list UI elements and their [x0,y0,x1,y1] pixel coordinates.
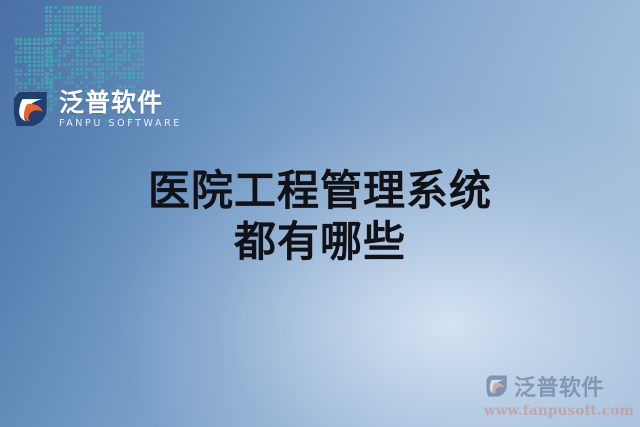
brand-wordmark: 泛普软件 FANPU SOFTWARE [59,90,182,129]
brand-logo: 泛普软件 FANPU SOFTWARE [10,88,182,130]
watermark-name-cn: 泛普软件 [514,370,604,402]
page-title: 医院工程管理系统 都有哪些 [0,166,640,266]
watermark-logo-row: 泛普软件 [484,370,634,402]
watermark: 泛普软件 www.fanpusoft.com [484,370,634,419]
fanpu-hexagon-logo-icon [484,373,510,399]
fanpu-hexagon-logo-icon [10,88,52,130]
promo-banner: 泛普软件 FANPU SOFTWARE 医院工程管理系统 都有哪些 泛普软件 w… [0,0,640,427]
page-title-line-1: 医院工程管理系统 [0,166,640,215]
pixel-mosaic-skyline-decoration [0,0,160,92]
page-title-line-2: 都有哪些 [0,217,640,266]
brand-name-cn: 泛普软件 [59,90,182,115]
watermark-url: www.fanpusoft.com [484,403,634,419]
brand-name-en: FANPU SOFTWARE [59,119,182,129]
